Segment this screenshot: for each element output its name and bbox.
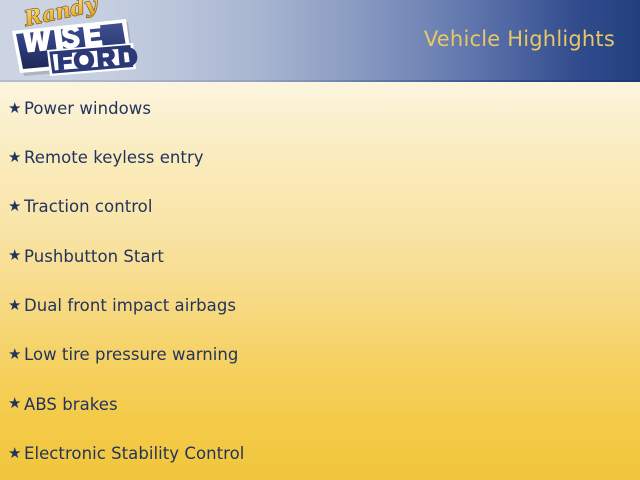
- vehicle-highlights-list: ★Power windows★Remote keyless entry★Trac…: [0, 82, 640, 480]
- highlight-item-label: Low tire pressure warning: [24, 347, 238, 364]
- highlight-item-label: Remote keyless entry: [24, 150, 204, 167]
- highlight-item: ★Low tire pressure warning: [8, 343, 238, 369]
- star-bullet-icon: ★: [8, 396, 24, 411]
- page-title: Vehicle Highlights: [424, 27, 615, 51]
- star-bullet-icon: ★: [8, 150, 24, 165]
- highlight-item-label: ABS brakes: [24, 397, 118, 414]
- highlight-item-label: Power windows: [24, 101, 151, 118]
- highlight-item-label: Traction control: [24, 199, 152, 216]
- highlight-item: ★Remote keyless entry: [8, 145, 204, 171]
- star-bullet-icon: ★: [8, 298, 24, 313]
- header-bar: Randy Vehicle Highlights: [0, 0, 640, 82]
- star-bullet-icon: ★: [8, 347, 24, 362]
- star-bullet-icon: ★: [8, 248, 24, 263]
- highlight-item: ★Traction control: [8, 195, 152, 221]
- highlight-item: ★Pushbutton Start: [8, 244, 164, 270]
- vehicle-highlights-page: Randy Vehicle Highlights ★Power windows★…: [0, 0, 640, 480]
- star-bullet-icon: ★: [8, 446, 24, 461]
- highlight-item: ★ABS brakes: [8, 392, 118, 418]
- highlight-item-label: Dual front impact airbags: [24, 298, 236, 315]
- star-bullet-icon: ★: [8, 199, 24, 214]
- highlight-item: ★Electronic Stability Control: [8, 441, 244, 467]
- randy-wise-ford-logo: Randy: [0, 0, 140, 82]
- star-bullet-icon: ★: [8, 101, 24, 116]
- highlight-item: ★Dual front impact airbags: [8, 293, 236, 319]
- highlight-item-label: Pushbutton Start: [24, 249, 164, 266]
- highlight-item: ★Power windows: [8, 96, 151, 122]
- highlight-item-label: Electronic Stability Control: [24, 446, 244, 463]
